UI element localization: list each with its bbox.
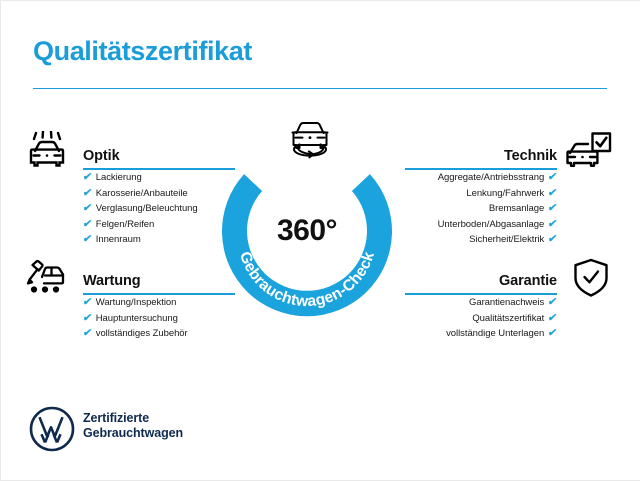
- section-wartung-divider: [83, 293, 235, 295]
- list-item-label: Qualitätszertifikat: [472, 313, 544, 324]
- wrench-car-icon: [24, 257, 68, 302]
- section-wartung-title: Wartung: [83, 273, 141, 289]
- list-item-label: Karosserie/Anbauteile: [96, 188, 188, 199]
- list-item: Qualitätszertifikat✔: [405, 311, 557, 327]
- section-optik-list: ✔Lackierung ✔Karosserie/Anbauteile ✔Verg…: [83, 170, 235, 248]
- section-optik: Optik ✔Lackierung ✔Karosserie/Anbauteile…: [83, 140, 235, 248]
- check-icon: ✔: [82, 311, 93, 327]
- section-optik-title: Optik: [83, 148, 120, 164]
- section-garantie-title: Garantie: [499, 273, 557, 289]
- check-icon: ✔: [82, 295, 93, 311]
- car-rotate-icon: [282, 118, 338, 164]
- check-icon: ✔: [547, 217, 558, 233]
- section-wartung-list: ✔Wartung/Inspektion ✔Hauptuntersuchung ✔…: [83, 295, 235, 342]
- footer-brand-text: Zertifizierte Gebrauchtwagen: [83, 411, 183, 441]
- footer-brand-line1: Zertifizierte: [83, 411, 183, 426]
- list-item: Unterboden/Abgasanlage✔: [405, 217, 557, 233]
- list-item: Lenkung/Fahrwerk✔: [405, 186, 557, 202]
- list-item-label: Garantienachweis: [469, 297, 544, 308]
- certificate-page: Qualitätszertifikat Optik ✔Lackierung: [0, 0, 640, 480]
- check-icon: ✔: [82, 326, 93, 342]
- shield-check-icon: [571, 257, 611, 304]
- section-optik-header: Optik: [83, 140, 235, 170]
- check-icon: ✔: [82, 170, 93, 186]
- check-icon: ✔: [82, 217, 93, 233]
- list-item-label: Lenkung/Fahrwerk: [466, 188, 544, 199]
- section-optik-divider: [83, 168, 235, 170]
- list-item-label: Felgen/Reifen: [96, 219, 155, 230]
- badge-center-label: 360°: [222, 214, 392, 248]
- check-icon: ✔: [82, 186, 93, 202]
- list-item: Bremsanlage✔: [405, 201, 557, 217]
- badge-arc-label: Gebrauchtwagen-Check: [236, 250, 378, 311]
- list-item-label: vollständige Unterlagen: [446, 328, 544, 339]
- check-icon: ✔: [547, 311, 558, 327]
- section-wartung-header: Wartung: [83, 265, 235, 295]
- section-technik-list: Aggregate/Antriebsstrang✔ Lenkung/Fahrwe…: [405, 170, 557, 248]
- list-item: Aggregate/Antriebsstrang✔: [405, 170, 557, 186]
- list-item: ✔Verglasung/Beleuchtung: [83, 201, 235, 217]
- list-item: vollständige Unterlagen✔: [405, 326, 557, 342]
- list-item-label: Bremsanlage: [489, 203, 544, 214]
- list-item-label: Verglasung/Beleuchtung: [96, 203, 198, 214]
- list-item: ✔Felgen/Reifen: [83, 217, 235, 233]
- section-technik-header: Technik: [405, 140, 557, 170]
- section-garantie-header: Garantie: [405, 265, 557, 295]
- check-icon: ✔: [547, 232, 558, 248]
- check-icon: ✔: [547, 295, 558, 311]
- list-item: Sicherheit/Elektrik✔: [405, 232, 557, 248]
- list-item-label: Innenraum: [96, 234, 141, 245]
- vw-roundel-logo: [29, 406, 75, 452]
- section-garantie-divider: [405, 293, 557, 295]
- page-title: Qualitätszertifikat: [33, 36, 252, 67]
- section-technik-divider: [405, 168, 557, 170]
- list-item: ✔Hauptuntersuchung: [83, 311, 235, 327]
- list-item: ✔vollständiges Zubehör: [83, 326, 235, 342]
- list-item-label: Unterboden/Abgasanlage: [438, 219, 545, 230]
- list-item-label: Sicherheit/Elektrik: [469, 234, 544, 245]
- check-icon: ✔: [547, 201, 558, 217]
- car-headlights-icon: [24, 131, 68, 176]
- footer-brand-line2: Gebrauchtwagen: [83, 426, 183, 441]
- check-icon: ✔: [547, 326, 558, 342]
- list-item-label: Wartung/Inspektion: [96, 297, 177, 308]
- car-checkbox-icon: [566, 131, 612, 176]
- list-item: ✔Innenraum: [83, 232, 235, 248]
- list-item: ✔Wartung/Inspektion: [83, 295, 235, 311]
- list-item-label: Hauptuntersuchung: [96, 313, 178, 324]
- section-technik-title: Technik: [504, 148, 557, 164]
- svg-text:Gebrauchtwagen-Check: Gebrauchtwagen-Check: [236, 250, 378, 311]
- check-icon: ✔: [547, 170, 558, 186]
- list-item-label: vollständiges Zubehör: [96, 328, 188, 339]
- check-icon: ✔: [547, 186, 558, 202]
- section-technik: Technik Aggregate/Antriebsstrang✔ Lenkun…: [405, 140, 557, 248]
- list-item: ✔Lackierung: [83, 170, 235, 186]
- section-garantie: Garantie Garantienachweis✔ Qualitätszert…: [405, 265, 557, 342]
- title-divider: [33, 88, 607, 89]
- section-wartung: Wartung ✔Wartung/Inspektion ✔Hauptunters…: [83, 265, 235, 342]
- list-item-label: Lackierung: [96, 172, 142, 183]
- list-item-label: Aggregate/Antriebsstrang: [438, 172, 545, 183]
- check-icon: ✔: [82, 201, 93, 217]
- check-icon: ✔: [82, 232, 93, 248]
- section-garantie-list: Garantienachweis✔ Qualitätszertifikat✔ v…: [405, 295, 557, 342]
- list-item: Garantienachweis✔: [405, 295, 557, 311]
- list-item: ✔Karosserie/Anbauteile: [83, 186, 235, 202]
